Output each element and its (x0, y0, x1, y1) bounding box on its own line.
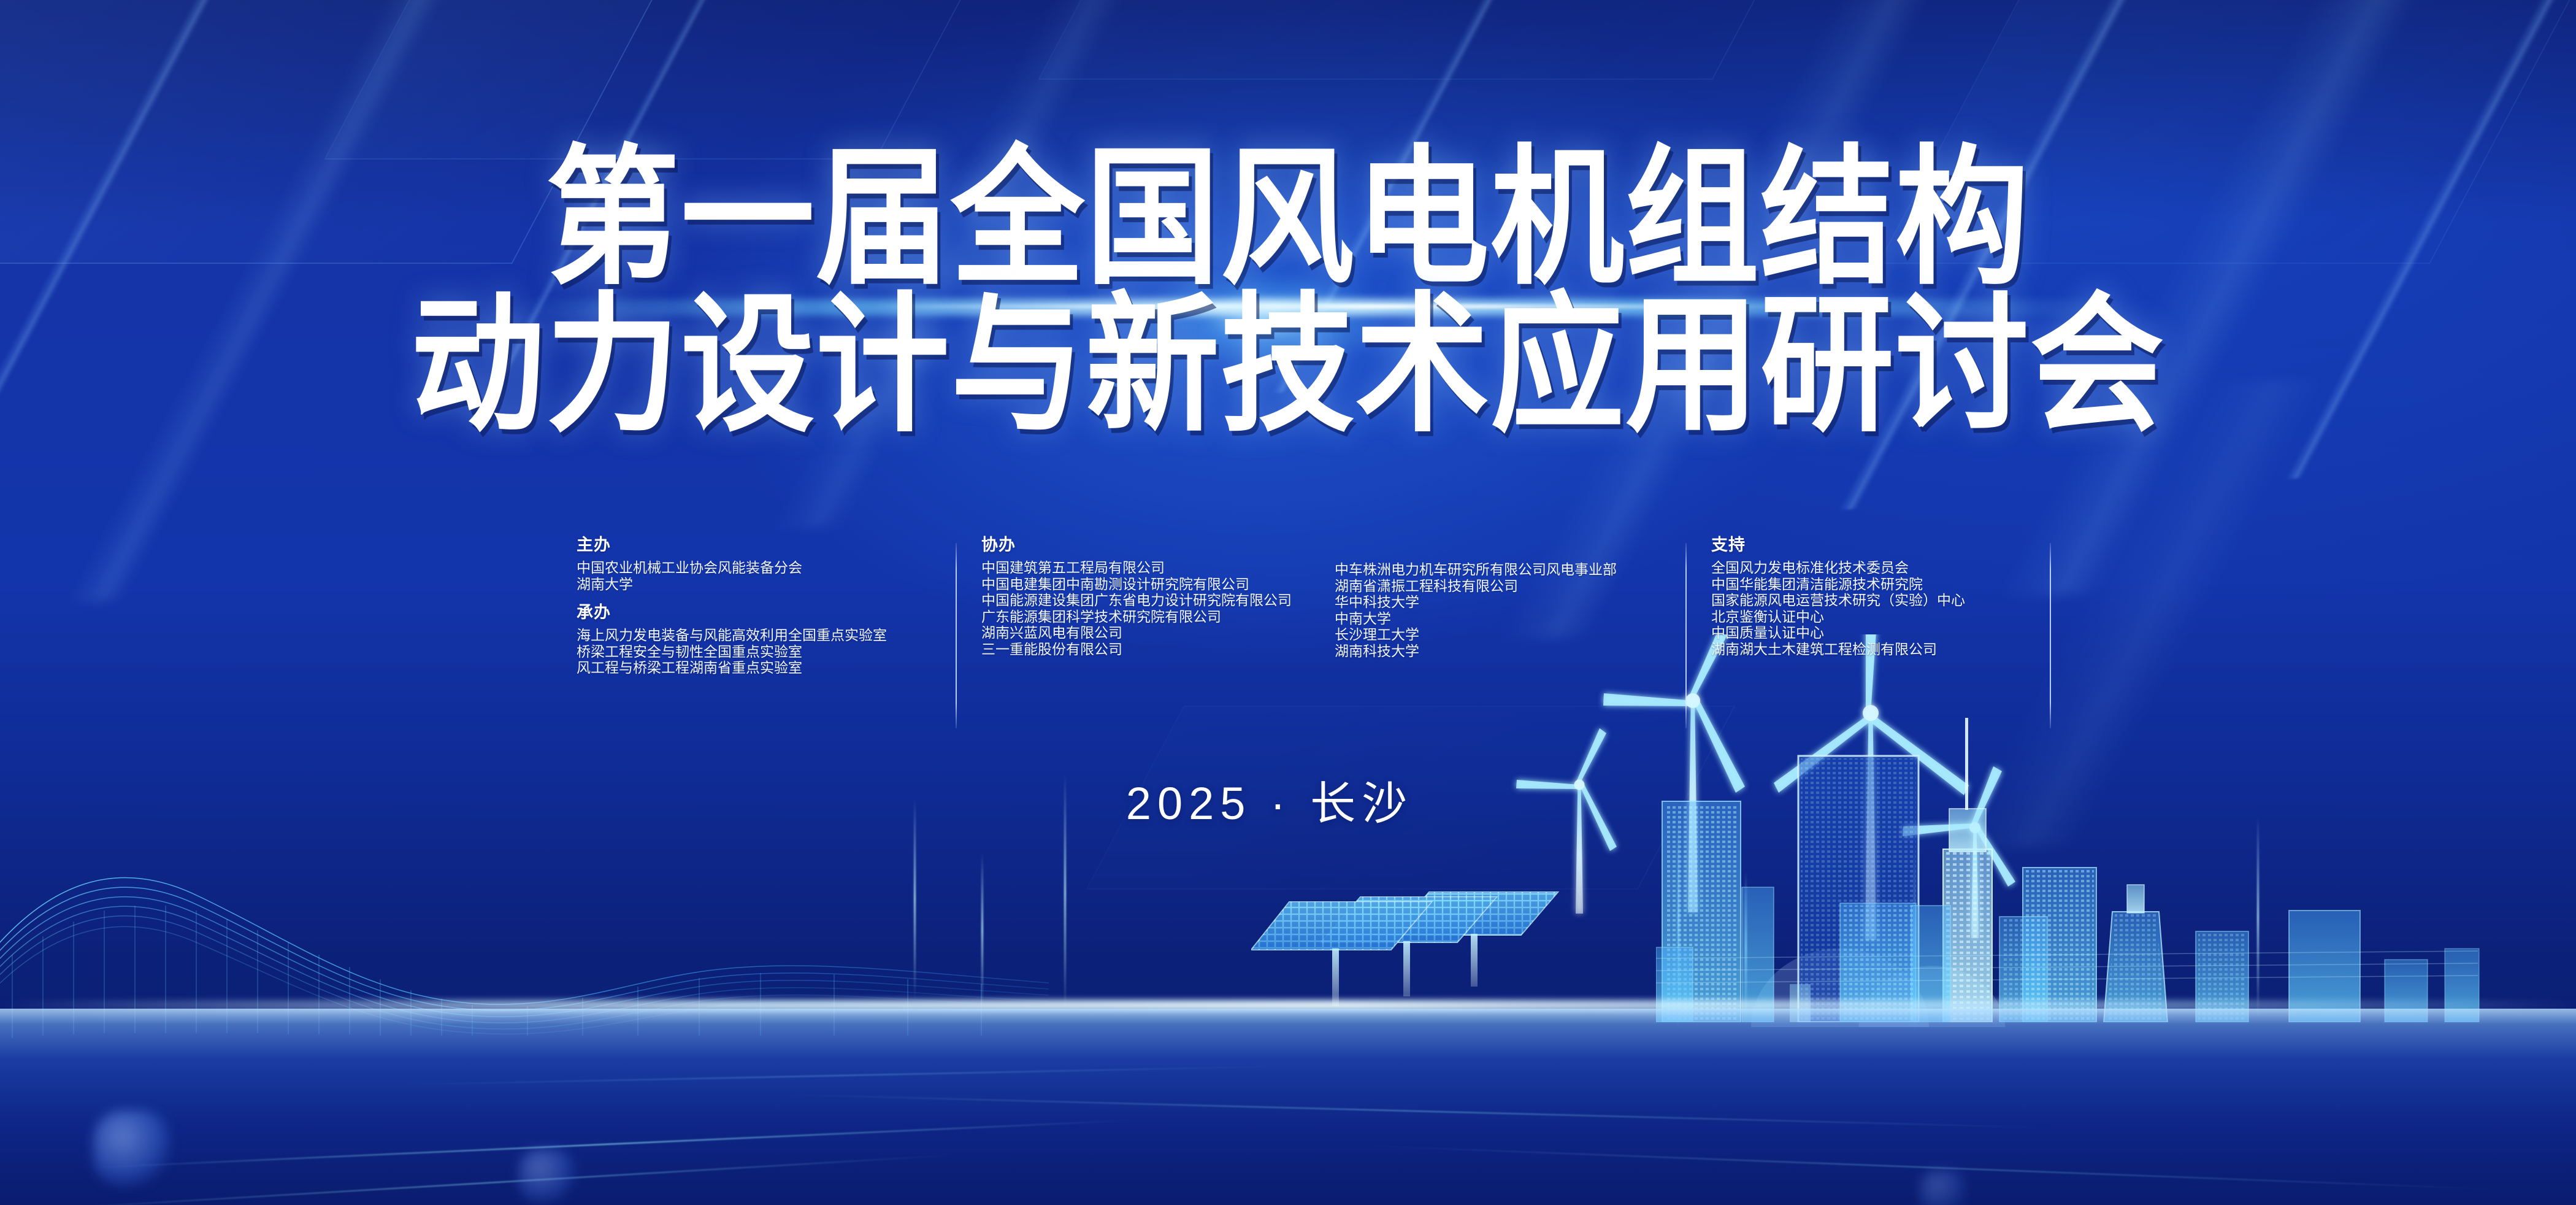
date-city-line: 2025 · 长沙 (0, 779, 2576, 828)
list-item: 中国建筑第五工程局有限公司 (981, 560, 1324, 576)
list-item: 中国电建集团中南勘测设计研究院有限公司 (981, 576, 1324, 593)
list-item: 湖南湖大土木建筑工程检测有限公司 (1711, 641, 2029, 658)
bokeh-particle-3 (1920, 1169, 1966, 1205)
undertaker-list: 海上风力发电装备与风能高效利用全国重点实验室 桥梁工程安全与韧性全国重点实验室 … (577, 627, 956, 676)
conference-banner: 第一届全国风电机组结构 动力设计与新技术应用研讨会 主办 中国农业机械工业协会风… (0, 0, 2576, 1205)
list-item: 中车株洲电力机车研究所有限公司风电事业部 (1335, 561, 1685, 578)
list-item: 桥梁工程安全与韧性全国重点实验室 (577, 644, 956, 660)
column-divider (1685, 543, 1687, 728)
list-item: 中国能源建设集团广东省电力设计研究院有限公司 (981, 592, 1324, 609)
section-heading-coorganizer: 协办 (981, 536, 1324, 554)
list-item: 长沙理工大学 (1335, 626, 1685, 643)
list-item: 中南大学 (1335, 610, 1685, 627)
list-item: 风工程与桥梁工程湖南省重点实验室 (577, 660, 956, 676)
title-line-1: 第一届全国风电机组结构 (0, 146, 2576, 291)
list-item: 北京鉴衡认证中心 (1711, 609, 2029, 625)
list-item: 海上风力发电装备与风能高效利用全国重点实验室 (577, 627, 956, 644)
bokeh-particle-1 (93, 1111, 171, 1188)
section-heading-host: 主办 (577, 536, 956, 554)
list-item: 中国质量认证中心 (1711, 625, 2029, 641)
host-list: 中国农业机械工业协会风能装备分会 湖南大学 (577, 560, 956, 592)
organizers-block: 主办 中国农业机械工业协会风能装备分会 湖南大学 承办 海上风力发电装备与风能高… (577, 536, 2029, 676)
organizer-column-support: 支持 全国风力发电标准化技术委员会 中国华能集团清洁能源技术研究院 国家能源风电… (1685, 536, 2029, 657)
list-item: 湖南科技大学 (1335, 643, 1685, 660)
coorganizer-list-b: 中车株洲电力机车研究所有限公司风电事业部 湖南省潇振工程科技有限公司 华中科技大… (1335, 561, 1685, 659)
list-item: 三一重能股份有限公司 (981, 641, 1324, 658)
list-item: 中国华能集团清洁能源技术研究院 (1711, 576, 2029, 593)
list-item: 中国农业机械工业协会风能装备分会 (577, 560, 956, 576)
bg-polygon-3 (1038, 0, 1820, 80)
list-item: 华中科技大学 (1335, 594, 1685, 610)
support-list: 全国风力发电标准化技术委员会 中国华能集团清洁能源技术研究院 国家能源风电运营技… (1711, 560, 2029, 657)
city-skyline-graphic (1656, 703, 2576, 1022)
column-divider (956, 543, 957, 728)
page-title: 第一届全国风电机组结构 动力设计与新技术应用研讨会 (0, 146, 2576, 423)
column-divider-right (2050, 543, 2051, 728)
list-item: 全国风力发电标准化技术委员会 (1711, 560, 2029, 576)
coorganizer-list-a: 中国建筑第五工程局有限公司 中国电建集团中南勘测设计研究院有限公司 中国能源建设… (981, 560, 1324, 657)
list-item: 湖南大学 (577, 576, 956, 593)
section-heading-support: 支持 (1711, 536, 2029, 554)
list-item: 湖南兴蓝风电有限公司 (981, 625, 1324, 641)
title-line-2: 动力设计与新技术应用研讨会 (0, 293, 2576, 439)
date-city-text: 2025 · 长沙 (1126, 779, 1413, 828)
list-item: 广东能源集团科学技术研究院有限公司 (981, 609, 1324, 625)
organizer-column-host: 主办 中国农业机械工业协会风能装备分会 湖南大学 承办 海上风力发电装备与风能高… (577, 536, 956, 676)
list-item: 湖南省潇振工程科技有限公司 (1335, 578, 1685, 595)
organizer-column-coorganizer-a: 协办 中国建筑第五工程局有限公司 中国电建集团中南勘测设计研究院有限公司 中国能… (956, 536, 1324, 657)
list-item: 国家能源风电运营技术研究（实验）中心 (1711, 592, 2029, 609)
organizer-column-coorganizer-b: 中车株洲电力机车研究所有限公司风电事业部 湖南省潇振工程科技有限公司 华中科技大… (1324, 536, 1685, 659)
section-heading-undertaker: 承办 (577, 603, 956, 622)
bokeh-particle-2 (519, 1149, 575, 1205)
